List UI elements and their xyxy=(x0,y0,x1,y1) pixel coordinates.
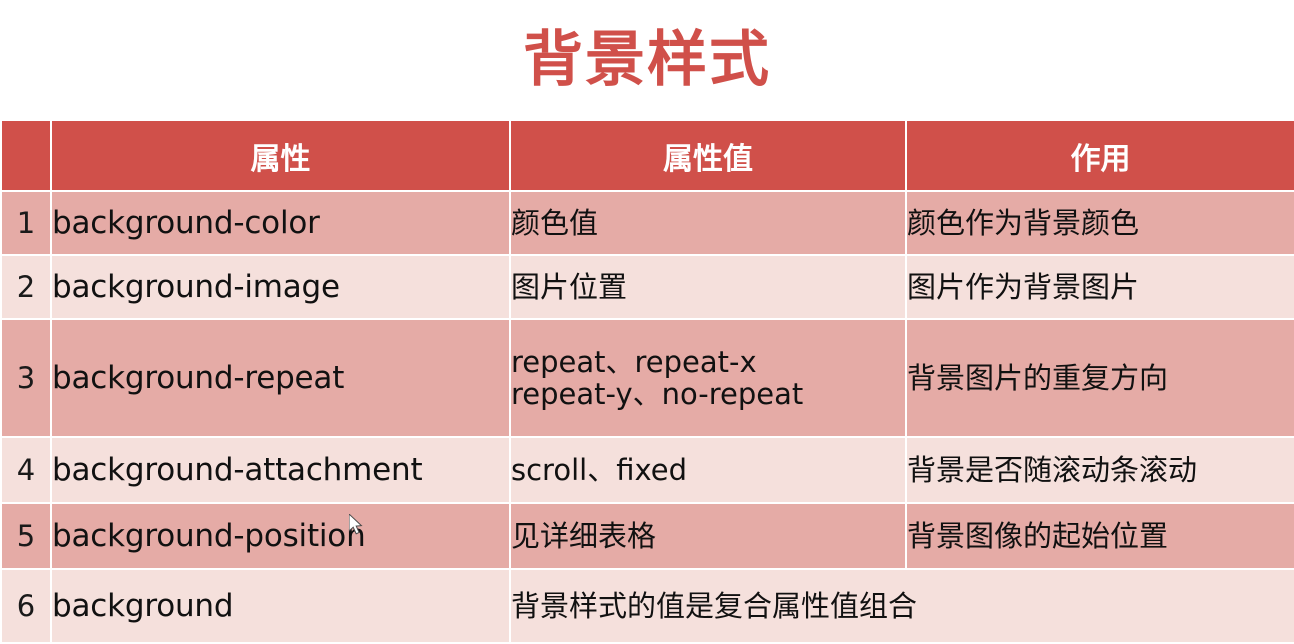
value-line: 颜色值 xyxy=(511,207,905,239)
cell-usage: 颜色作为背景颜色 xyxy=(906,191,1294,255)
value-line: 见详细表格 xyxy=(511,520,905,552)
table-header: 属性 属性值 作用 xyxy=(1,120,1294,191)
row-index: 5 xyxy=(1,503,51,569)
table-row: 5 background-position 见详细表格 背景图像的起始位置 xyxy=(1,503,1294,569)
row-index: 4 xyxy=(1,437,51,503)
cell-value-merged: 背景样式的值是复合属性值组合 xyxy=(510,569,1294,643)
row-index: 3 xyxy=(1,319,51,437)
cell-value: 颜色值 xyxy=(510,191,906,255)
cell-usage: 背景图像的起始位置 xyxy=(906,503,1294,569)
cell-property: background xyxy=(51,569,510,643)
column-header-property: 属性 xyxy=(51,120,510,191)
cell-property: background-repeat xyxy=(51,319,510,437)
page-title: 背景样式 xyxy=(0,0,1294,119)
cell-property: background-position xyxy=(51,503,510,569)
background-property-table: 属性 属性值 作用 1 background-color 颜色值 颜色作为背景颜… xyxy=(0,119,1294,644)
cell-property: background-attachment xyxy=(51,437,510,503)
table-row: 1 background-color 颜色值 颜色作为背景颜色 xyxy=(1,191,1294,255)
cell-usage: 背景是否随滚动条滚动 xyxy=(906,437,1294,503)
table-row: 2 background-image 图片位置 图片作为背景图片 xyxy=(1,255,1294,319)
column-header-index xyxy=(1,120,51,191)
cell-value: scroll、fixed xyxy=(510,437,906,503)
value-line: repeat、repeat-x xyxy=(511,346,905,378)
cell-usage: 图片作为背景图片 xyxy=(906,255,1294,319)
table-row: 6 background 背景样式的值是复合属性值组合 xyxy=(1,569,1294,643)
value-line: scroll、fixed xyxy=(511,454,905,486)
cell-usage: 背景图片的重复方向 xyxy=(906,319,1294,437)
row-index: 6 xyxy=(1,569,51,643)
column-header-usage: 作用 xyxy=(906,120,1294,191)
page-title-text: 背景样式 xyxy=(523,30,771,90)
cell-value: repeat、repeat-x repeat-y、no-repeat xyxy=(510,319,906,437)
table-row: 3 background-repeat repeat、repeat-x repe… xyxy=(1,319,1294,437)
value-line: 图片位置 xyxy=(511,271,905,303)
cell-value: 图片位置 xyxy=(510,255,906,319)
table-row: 4 background-attachment scroll、fixed 背景是… xyxy=(1,437,1294,503)
cell-value: 见详细表格 xyxy=(510,503,906,569)
value-line: repeat-y、no-repeat xyxy=(511,378,905,410)
cell-property: background-color xyxy=(51,191,510,255)
row-index: 1 xyxy=(1,191,51,255)
cell-property: background-image xyxy=(51,255,510,319)
column-header-value: 属性值 xyxy=(510,120,906,191)
table-header-row: 属性 属性值 作用 xyxy=(1,120,1294,191)
table-body: 1 background-color 颜色值 颜色作为背景颜色 2 backgr… xyxy=(1,191,1294,643)
row-index: 2 xyxy=(1,255,51,319)
